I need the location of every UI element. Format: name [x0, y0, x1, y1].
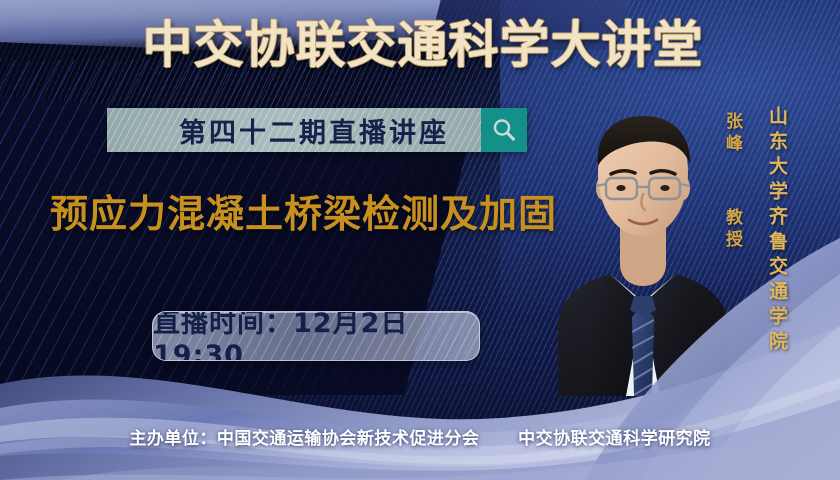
live-lecture-poster: 中交协联交通科学大讲堂 第四十二期直播讲座 预应力混凝土桥梁检测及加固 直播时间…	[0, 0, 840, 480]
broadcast-time-label: 直播时间：12月2日19:30	[153, 311, 479, 361]
footer: 主办单位：中国交通运输协会新技术促进分会 中交协联交通科学研究院	[0, 424, 840, 449]
lecture-topic: 预应力混凝土桥梁检测及加固	[50, 189, 557, 239]
episode-label: 第四十二期直播讲座	[107, 108, 481, 152]
footer-organizer-second: 中交协联交通科学研究院	[518, 429, 711, 449]
footer-organizer: 主办单位：中国交通运输协会新技术促进分会	[129, 429, 479, 449]
speaker-organization: 山东大学齐鲁交通学院	[764, 106, 791, 356]
search-icon	[491, 117, 517, 143]
search-button[interactable]	[481, 108, 527, 152]
broadcast-time-badge: 直播时间：12月2日19:30	[152, 311, 480, 361]
episode-banner: 第四十二期直播讲座	[107, 108, 527, 152]
speaker-name: 张峰	[720, 112, 745, 156]
speaker-role: 教授	[720, 208, 745, 252]
page-title: 中交协联交通科学大讲堂	[0, 14, 840, 76]
